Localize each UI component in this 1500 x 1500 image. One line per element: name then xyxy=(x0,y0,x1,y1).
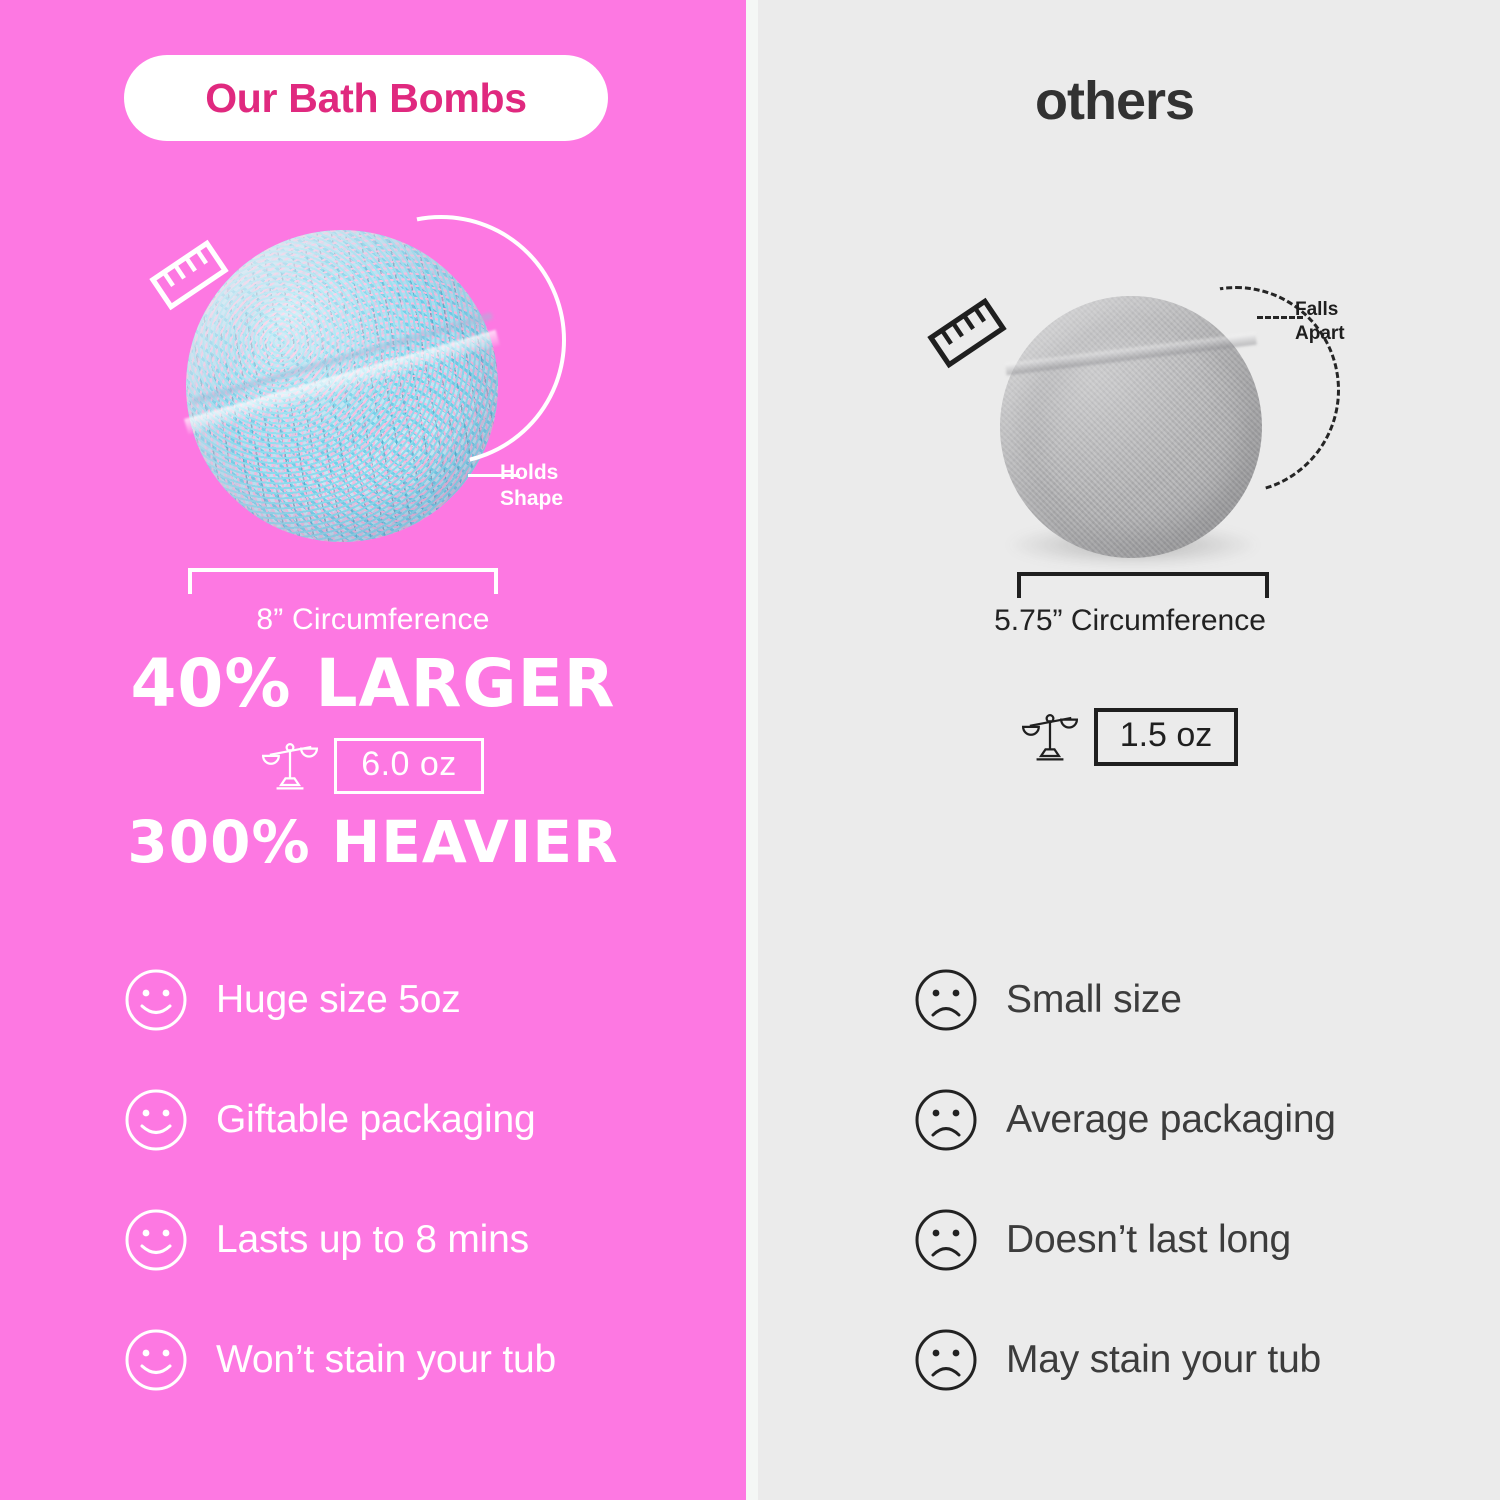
balance-scale-icon xyxy=(1022,711,1078,763)
smiley-face-icon xyxy=(124,1208,188,1272)
list-item-label: May stain your tub xyxy=(1006,1338,1321,1382)
ours-title-pill: Our Bath Bombs xyxy=(124,55,608,141)
ours-hero: Holds Shape xyxy=(0,195,746,595)
list-item-label: Doesn’t last long xyxy=(1006,1218,1291,1262)
list-item: Won’t stain your tub xyxy=(124,1300,556,1420)
sad-face-icon xyxy=(914,1328,978,1392)
smiley-face-icon xyxy=(124,968,188,1032)
smiley-face-icon xyxy=(124,1328,188,1392)
balance-scale-icon xyxy=(262,740,318,792)
list-item: Huge size 5oz xyxy=(124,940,556,1060)
others-weight-row: 1.5 oz xyxy=(760,708,1500,766)
list-item-label: Giftable packaging xyxy=(216,1098,535,1142)
others-weight-value: 1.5 oz xyxy=(1094,708,1239,766)
ours-weight-row: 6.0 oz xyxy=(0,738,746,794)
comparison-infographic: Our Bath Bombs Holds Shape xyxy=(0,0,1500,1500)
ours-size-headline: 40% LARGER xyxy=(0,645,746,722)
others-circumference-label: 5.75” Circumference xyxy=(760,604,1500,638)
holds-shape-annotation: Holds Shape xyxy=(500,460,563,512)
bath-bomb-image-others xyxy=(1000,296,1262,558)
sad-face-icon xyxy=(914,968,978,1032)
sad-face-icon xyxy=(914,1208,978,1272)
sad-face-icon xyxy=(914,1088,978,1152)
falls-apart-line2: Apart xyxy=(1295,322,1345,346)
ours-feature-list: Huge size 5oz Giftable packaging xyxy=(124,940,556,1420)
ours-panel: Our Bath Bombs Holds Shape xyxy=(0,0,746,1500)
list-item: Doesn’t last long xyxy=(914,1180,1336,1300)
panel-divider xyxy=(746,0,758,1500)
page-title: Our Bath Bombs xyxy=(205,75,527,122)
ours-weight-value: 6.0 oz xyxy=(334,738,484,794)
falls-apart-line1: Falls xyxy=(1295,298,1345,322)
others-page-title: others xyxy=(1035,70,1194,132)
others-feature-list: Small size Average packaging xyxy=(914,940,1336,1420)
list-item: Small size xyxy=(914,940,1336,1060)
falls-apart-annotation: Falls Apart xyxy=(1295,298,1345,346)
list-item-label: Small size xyxy=(1006,978,1182,1022)
holds-shape-line2: Shape xyxy=(500,486,563,512)
list-item-label: Lasts up to 8 mins xyxy=(216,1218,529,1262)
list-item: May stain your tub xyxy=(914,1300,1336,1420)
holds-shape-line1: Holds xyxy=(500,460,563,486)
list-item: Average packaging xyxy=(914,1060,1336,1180)
list-item: Giftable packaging xyxy=(124,1060,556,1180)
list-item-label: Average packaging xyxy=(1006,1098,1336,1142)
ours-circumference-label: 8” Circumference xyxy=(0,603,746,637)
list-item-label: Won’t stain your tub xyxy=(216,1338,556,1382)
list-item-label: Huge size 5oz xyxy=(216,978,461,1022)
smiley-face-icon xyxy=(124,1088,188,1152)
list-item: Lasts up to 8 mins xyxy=(124,1180,556,1300)
ours-weight-headline: 300% HEAVIER xyxy=(0,808,746,876)
